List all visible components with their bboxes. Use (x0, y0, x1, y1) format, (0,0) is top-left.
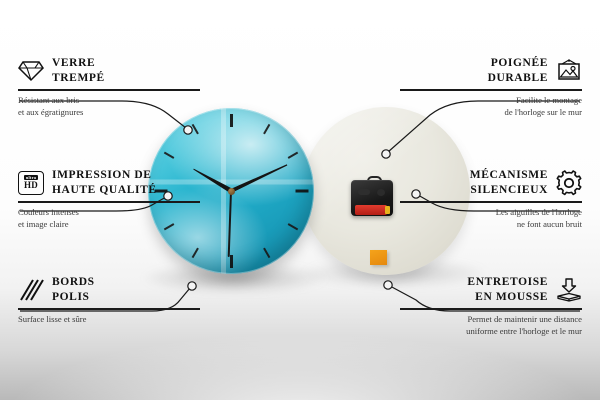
feature-divider (400, 89, 582, 90)
feature-bords-polis[interactable]: BORDSPOLIS Surface lisse et sûre (18, 275, 200, 326)
feature-title-line1: IMPRESSION DE (52, 169, 152, 181)
polished-edges-icon (18, 277, 44, 303)
feature-header: BORDSPOLIS (18, 275, 200, 304)
feature-title-line1: BORDS (52, 276, 95, 288)
feature-title-line2: SILENCIEUX (470, 184, 548, 196)
feature-title: IMPRESSION DEHAUTE QUALITÉ (52, 168, 157, 197)
feature-impression-haute-qualite[interactable]: ultra HD IMPRESSION DEHAUTE QUALITÉ Coul… (18, 168, 200, 230)
feature-desc-line1: Facilite le montage (516, 95, 582, 105)
feature-desc-line1: Permet de maintenir une distance (467, 314, 582, 324)
feature-title-line2: EN MOUSSE (475, 291, 548, 303)
feature-title-line2: POLIS (52, 291, 90, 303)
feature-title: POIGNÉEDURABLE (488, 56, 548, 85)
feature-title-line2: DURABLE (488, 72, 548, 84)
feature-title-line1: VERRE (52, 57, 95, 69)
feature-desc-line1: Surface lisse et sûre (18, 314, 87, 324)
feature-title-line1: MÉCANISME (470, 169, 548, 181)
connector-dot-poignee (382, 150, 390, 158)
feature-poignee-durable[interactable]: POIGNÉEDURABLE Facilite le montagede l'h… (400, 56, 582, 118)
feature-title-line2: TREMPÉ (52, 72, 105, 84)
feature-title-line2: HAUTE QUALITÉ (52, 184, 157, 196)
feature-desc-line1: Couleurs intenses (18, 207, 79, 217)
feature-title: ENTRETOISEEN MOUSSE (467, 275, 548, 304)
infographic-stage: VERRETREMPÉ Résistant aux briset aux égr… (0, 0, 600, 400)
feature-entretoise-en-mousse[interactable]: ENTRETOISEEN MOUSSE Permet de maintenir … (400, 275, 582, 337)
feature-desc-line1: Les aiguilles de l'horloge (496, 207, 582, 217)
feature-divider (18, 89, 200, 90)
feature-title-line1: ENTRETOISE (467, 276, 548, 288)
feature-divider (18, 201, 200, 202)
feature-divider (18, 308, 200, 309)
feature-description: Résistant aux briset aux égratignures (18, 95, 200, 119)
feature-description: Couleurs intenseset image claire (18, 207, 200, 231)
gear-icon (556, 170, 582, 196)
feature-mecanisme-silencieux[interactable]: MÉCANISMESILENCIEUX Les aiguilles de l'h… (400, 168, 582, 230)
feature-divider (400, 308, 582, 309)
feature-desc-line1: Résistant aux bris (18, 95, 79, 105)
hd-label: HD (24, 181, 38, 190)
foam-spacer-arrow-icon (556, 277, 582, 303)
connector-dot-verre-trempe (184, 126, 192, 134)
picture-frame-hanger-icon (556, 58, 582, 84)
connector-dot-entretoise (384, 281, 392, 289)
feature-header: POIGNÉEDURABLE (400, 56, 582, 85)
feature-description: Permet de maintenir une distanceuniforme… (400, 314, 582, 338)
feature-divider (400, 201, 582, 202)
feature-description: Facilite le montagede l'horloge sur le m… (400, 95, 582, 119)
feature-desc-line2: et image claire (18, 219, 69, 229)
feature-desc-line2: ne font aucun bruit (517, 219, 582, 229)
feature-description: Les aiguilles de l'horlogene font aucun … (400, 207, 582, 231)
feature-desc-line2: de l'horloge sur le mur (505, 107, 582, 117)
feature-header: ENTRETOISEEN MOUSSE (400, 275, 582, 304)
feature-desc-line2: uniforme entre l'horloge et le mur (466, 326, 582, 336)
feature-header: VERRETREMPÉ (18, 56, 200, 85)
feature-title: MÉCANISMESILENCIEUX (470, 168, 548, 197)
feature-header: ultra HD IMPRESSION DEHAUTE QUALITÉ (18, 168, 200, 197)
feature-title: BORDSPOLIS (52, 275, 95, 304)
feature-header: MÉCANISMESILENCIEUX (400, 168, 582, 197)
diamond-icon (18, 58, 44, 84)
feature-verre-trempe[interactable]: VERRETREMPÉ Résistant aux briset aux égr… (18, 56, 200, 118)
feature-description: Surface lisse et sûre (18, 314, 200, 326)
feature-desc-line2: et aux égratignures (18, 107, 83, 117)
feature-title-line1: POIGNÉE (491, 57, 548, 69)
ultra-hd-badge-icon: ultra HD (18, 170, 44, 196)
feature-title: VERRETREMPÉ (52, 56, 105, 85)
